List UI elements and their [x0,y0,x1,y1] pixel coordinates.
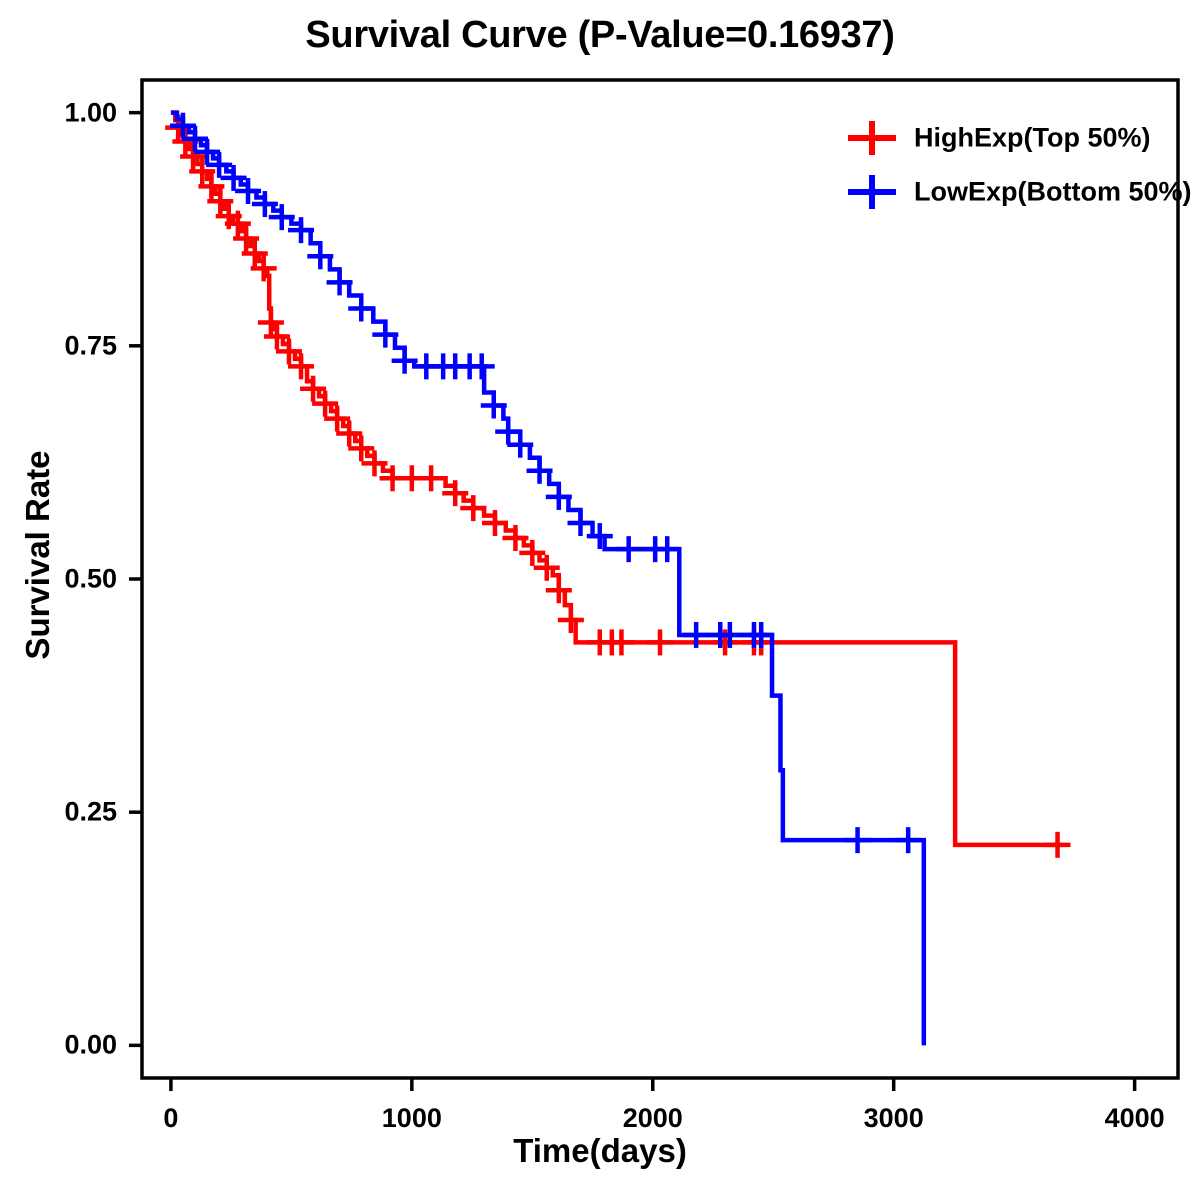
survival-curve-figure: Survival Curve (P-Value=0.16937) Surviva… [0,0,1200,1200]
y-tick-label-3: 0.75 [0,330,117,361]
x-tick-label-4: 4000 [1105,1103,1165,1134]
x-tick-label-3: 3000 [864,1103,924,1134]
x-tick-label-2: 2000 [623,1103,683,1134]
y-axis-label: Survival Rate [19,425,57,685]
y-tick-label-1: 0.25 [0,797,117,828]
y-tick-label-0: 0.00 [0,1030,117,1061]
page-title: Survival Curve (P-Value=0.16937) [0,14,1200,57]
y-tick-label-2: 0.50 [0,564,117,595]
x-tick-label-1: 1000 [382,1103,442,1134]
legend-label-0: HighExp(Top 50%) [914,123,1151,154]
legend-label-1: LowExp(Bottom 50%) [914,177,1192,208]
x-axis-label: Time(days) [0,1132,1200,1170]
y-tick-label-4: 1.00 [0,97,117,128]
x-tick-label-0: 0 [163,1103,178,1134]
